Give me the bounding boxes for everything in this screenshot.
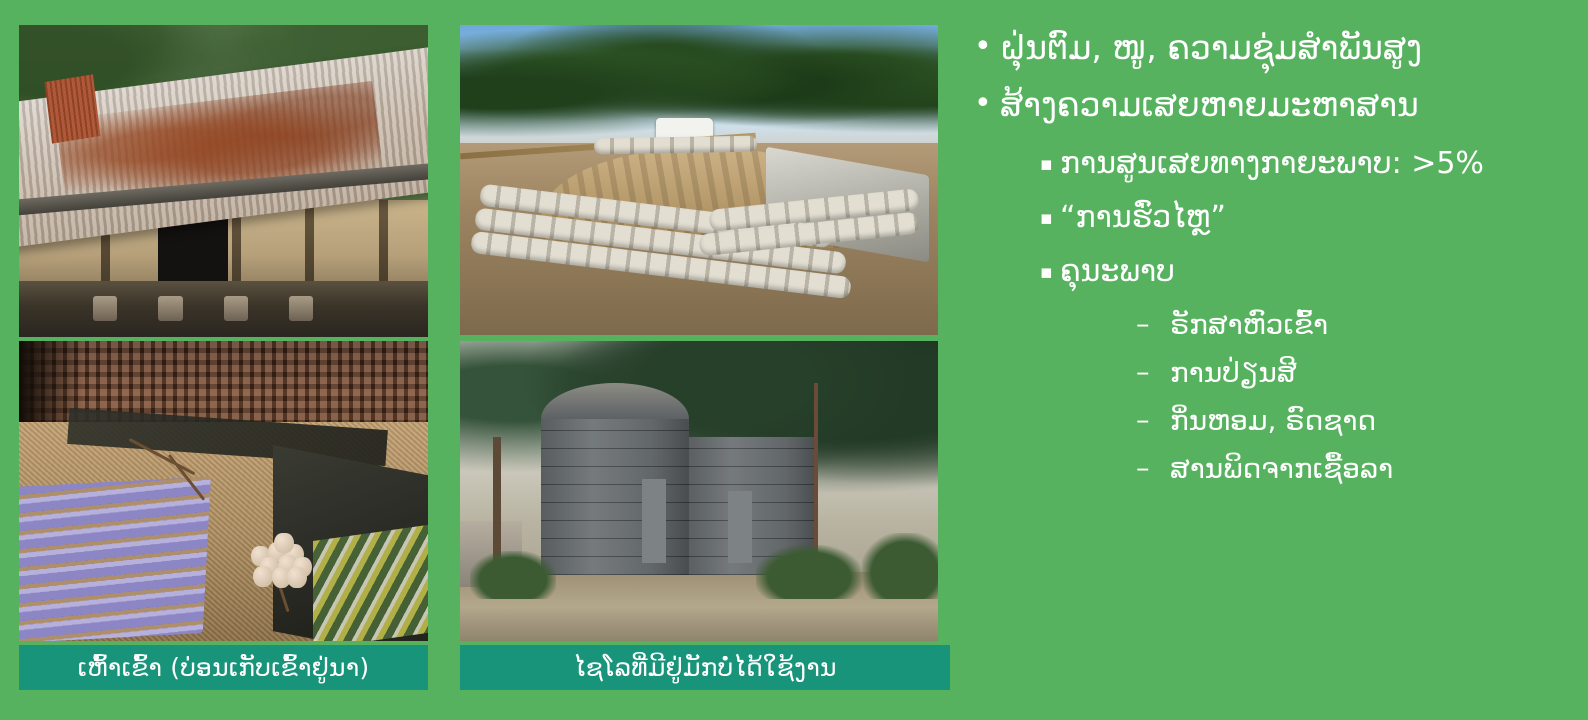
bullet-dot-icon: •: [968, 24, 1000, 70]
bullet-dash-icon: –: [1136, 353, 1170, 393]
silo-left: [541, 419, 689, 575]
bullet-square-icon: ▪: [1040, 143, 1060, 185]
egg-cluster: [248, 530, 313, 578]
bullet-dot-icon: •: [968, 81, 1000, 127]
bullet-level3-1-text: ຣັກສາຫົວເຂົ້າ: [1170, 305, 1578, 345]
silo-door-chute: [728, 491, 752, 563]
bullet-level1-1-text: ຝຸ່ນຕົມ, ໜູ, ຄວາມຊຸ່ມສຳພັນສູງ: [1000, 24, 1578, 72]
caption-left: ເຫົ້າເຂົ້າ (ບ່ອນເກັບເຂົ້າຢູ່ນາ): [19, 645, 428, 690]
grain-floor-scene: [19, 341, 428, 641]
roof-rust-panel: [44, 74, 100, 144]
bullet-level2-1: ▪ ການສູນເສຍທາງກາຍະພາບ: >5%: [1040, 143, 1578, 185]
bullet-level3-4: – ສານພິດຈາກເຊື້ອລາ: [1136, 449, 1578, 489]
bullet-square-icon: ▪: [1040, 251, 1060, 293]
bush: [470, 551, 556, 599]
silo-door-chute: [642, 479, 666, 563]
hut-post: [379, 200, 388, 294]
bullet-level3-2: – ການປ່ຽນສີ: [1136, 353, 1578, 393]
abandoned-silos-scene: [460, 341, 938, 641]
photo-top-right: [460, 25, 938, 335]
hut-post: [305, 200, 314, 294]
bullet-dash-icon: –: [1136, 449, 1170, 489]
bullet-level3-2-text: ການປ່ຽນສີ: [1170, 353, 1578, 393]
photo-bottom-left: [19, 341, 428, 641]
printed-mat: [313, 525, 428, 641]
photo-bottom-right: [460, 341, 938, 641]
metal-mast: [814, 383, 819, 557]
bullet-level2-2-text: “ການຮົ່ວໄຫຼ”: [1060, 197, 1578, 239]
bullet-level2-1-text: ການສູນເສຍທາງກາຍະພາບ: >5%: [1060, 143, 1578, 185]
photo-top-left: [19, 25, 428, 337]
bullet-level3-3-text: ກິ່ນຫອມ, ຣົດຊາດ: [1170, 401, 1578, 441]
bullet-square-icon: ▪: [1040, 197, 1060, 239]
bullet-level3-4-text: ສານພິດຈາກເຊື້ອລາ: [1170, 449, 1578, 489]
bullet-level3-1: – ຣັກສາຫົວເຂົ້າ: [1136, 305, 1578, 345]
foundation-stone: [289, 296, 314, 321]
hut-scene: [19, 25, 428, 337]
bullet-level3-3: – ກິ່ນຫອມ, ຣົດຊາດ: [1136, 401, 1578, 441]
bullet-level2-3-text: ຄຸນະພາບ: [1060, 251, 1578, 293]
bullet-dash-icon: –: [1136, 305, 1170, 345]
foundation-stone: [158, 296, 183, 321]
caption-left-text: ເຫົ້າເຂົ້າ (ບ່ອນເກັບເຂົ້າຢູ່ນາ): [78, 653, 370, 682]
bullet-dash-icon: –: [1136, 401, 1170, 441]
bullet-level1-2-text: ສ້າງຄວາມເສຍຫາຍມະຫາສານ: [1000, 81, 1578, 129]
sack-row-far: [594, 135, 757, 153]
bullet-level1-2: • ສ້າງຄວາມເສຍຫາຍມະຫາສານ: [968, 81, 1578, 129]
bullet-list: • ຝຸ່ນຕົມ, ໜູ, ຄວາມຊຸ່ມສຳພັນສູງ • ສ້າງຄວ…: [968, 24, 1578, 544]
slide-canvas: ເຫົ້າເຂົ້າ (ບ່ອນເກັບເຂົ້າຢູ່ນາ) ໄຊໂລທີ່ມ…: [0, 0, 1588, 720]
outdoor-grain-pile-scene: [460, 25, 938, 335]
bullet-level2-2: ▪ “ການຮົ່ວໄຫຼ”: [1040, 197, 1578, 239]
bullet-level2-3: ▪ ຄຸນະພາບ: [1040, 251, 1578, 293]
bush: [756, 545, 861, 599]
grain-on-mattress: [19, 477, 211, 641]
bush: [862, 533, 938, 599]
foundation-stone: [93, 296, 118, 321]
foundation-stone: [224, 296, 249, 321]
caption-right: ໄຊໂລທີ່ມີຢູ່ມັກບໍ່ໄດ້ໃຊ້ງານ: [460, 645, 950, 690]
bullet-level1-1: • ຝຸ່ນຕົມ, ໜູ, ຄວາມຊຸ່ມສຳພັນສູງ: [968, 24, 1578, 72]
caption-right-text: ໄຊໂລທີ່ມີຢູ່ມັກບໍ່ໄດ້ໃຊ້ງານ: [573, 653, 836, 682]
